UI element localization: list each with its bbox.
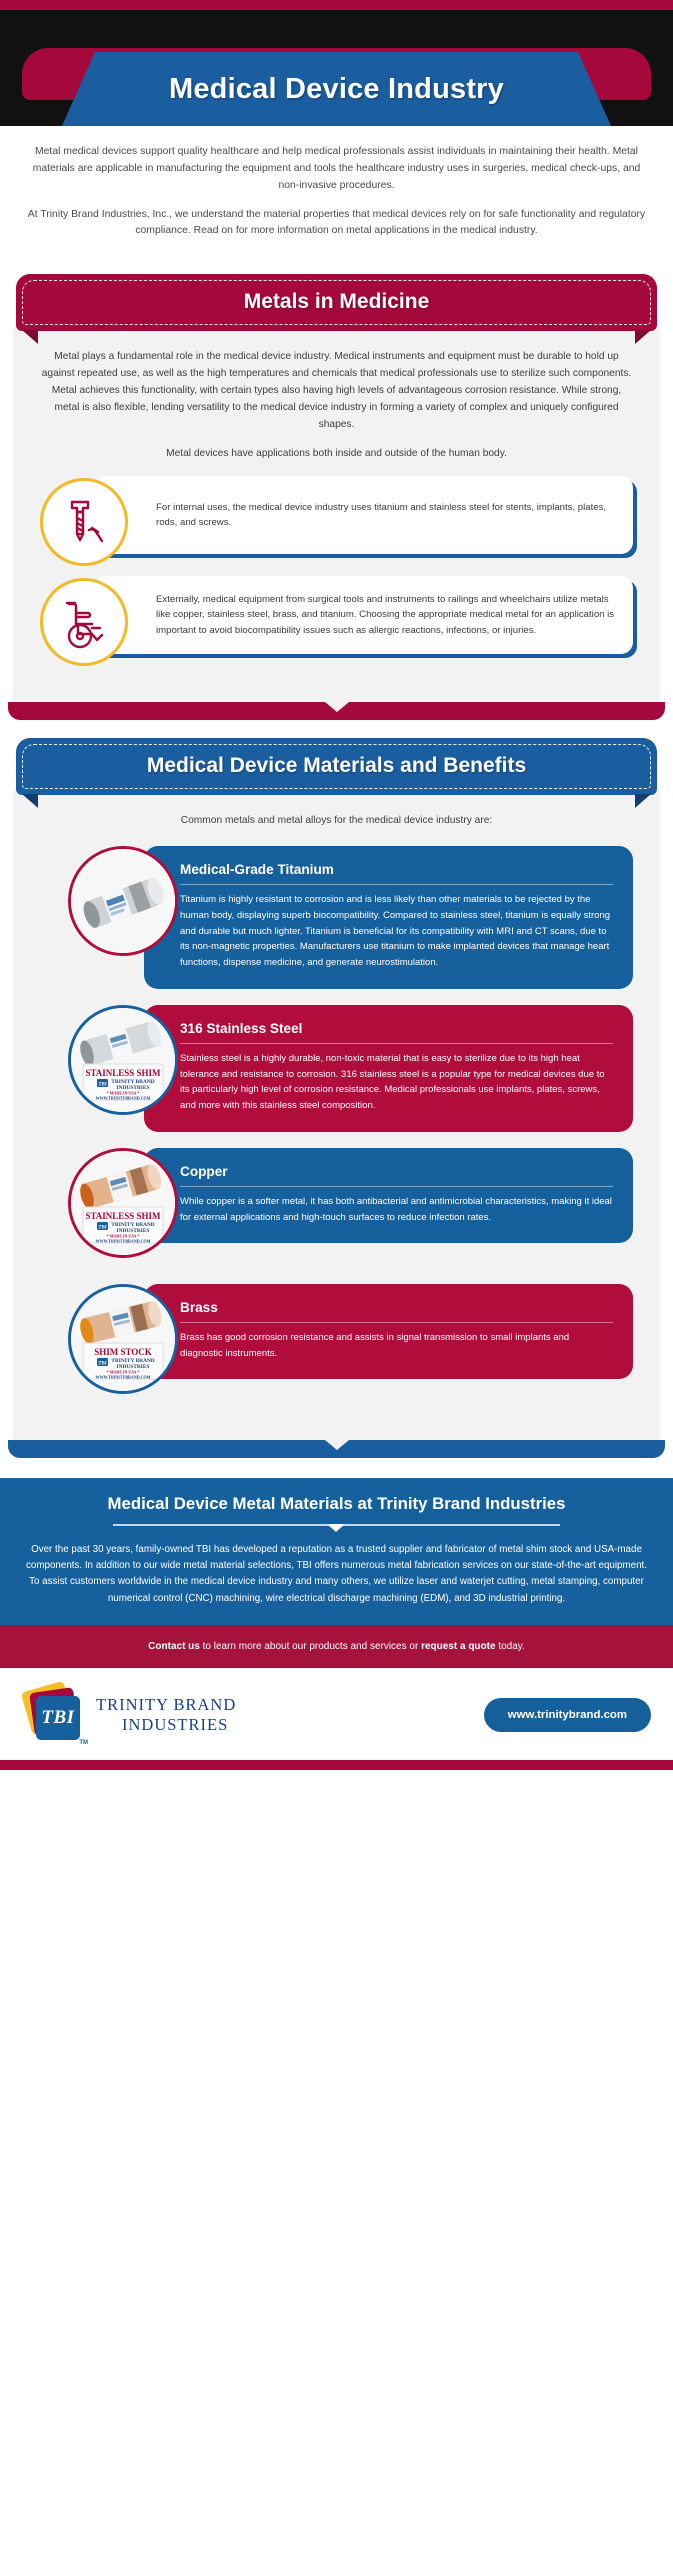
materials-panel-footer (14, 1440, 659, 1464)
trinity-divider-icon (113, 1520, 560, 1532)
svg-text:TBI: TBI (98, 1225, 107, 1230)
banner-left-tab-icon (22, 330, 38, 344)
materials-panel-notch-icon (325, 1440, 349, 1450)
footer: TBI TM TRINITY BRAND INDUSTRIES www.trin… (0, 1668, 673, 1760)
material-card-brass: SHIM STOCK TBI TRINITY BRAND INDUSTRIES … (40, 1284, 633, 1404)
metals-panel-notch-icon (325, 702, 349, 712)
material-card-stainless-steel: STAINLESS SHIM TBI TRINITY BRAND INDUSTR… (40, 1005, 633, 1132)
metals-banner-title: Metals in Medicine (29, 290, 644, 314)
cta-mid-text: to learn more about our products and ser… (200, 1641, 421, 1652)
svg-text:WWW.TRINITYBRAND.COM: WWW.TRINITYBRAND.COM (96, 1238, 151, 1243)
cta-bar: Contact us to learn more about our produ… (0, 1625, 673, 1668)
trinity-section: Medical Device Metal Materials at Trinit… (0, 1478, 673, 1625)
trinity-section-title: Medical Device Metal Materials at Trinit… (26, 1494, 647, 1514)
hero-banner: Medical Device Industry (62, 52, 611, 126)
svg-text:STAINLESS SHIM: STAINLESS SHIM (85, 1068, 161, 1078)
titanium-card-body: Medical-Grade Titanium Titanium is highl… (144, 846, 633, 989)
tbi-logo-mark-icon: TBI TM (22, 1684, 86, 1746)
banner-left-tab-icon (22, 794, 38, 808)
svg-text:TBI: TBI (98, 1361, 107, 1366)
logo-line-1: TRINITY BRAND (96, 1695, 236, 1714)
intro-paragraph-2: At Trinity Brand Industries, Inc., we un… (22, 207, 651, 241)
stainless-card-body: 316 Stainless Steel Stainless steel is a… (144, 1005, 633, 1132)
infographic-page: Medical Device Industry Metal medical de… (0, 0, 673, 1770)
top-red-bar (0, 0, 673, 10)
wheelchair-icon (40, 578, 128, 666)
cta-text: Contact us to learn more about our produ… (24, 1639, 649, 1654)
tbi-logo-wordmark: TRINITY BRAND INDUSTRIES (96, 1695, 236, 1734)
titanium-card-description: Titanium is highly resistant to corrosio… (180, 892, 613, 971)
banner-right-tab-icon (635, 330, 651, 344)
brass-card-title: Brass (180, 1300, 613, 1323)
callout-internal-uses: For internal uses, the medical device in… (40, 476, 633, 562)
intro-paragraph-1: Metal medical devices support quality he… (22, 144, 651, 195)
copper-card-description: While copper is a softer metal, it has b… (180, 1194, 613, 1226)
callout-external-text: Externally, medical equipment from surgi… (156, 592, 615, 639)
footer-red-bar (0, 1760, 673, 1770)
copper-card-title: Copper (180, 1164, 613, 1187)
materials-lead-text: Common metals and metal alloys for the m… (40, 813, 633, 830)
materials-panel: Common metals and metal alloys for the m… (14, 791, 659, 1440)
metals-banner: Metals in Medicine (16, 274, 657, 331)
copper-card-body: Copper While copper is a softer metal, i… (144, 1148, 633, 1244)
contact-us-link[interactable]: Contact us (148, 1641, 200, 1652)
website-button[interactable]: www.trinitybrand.com (484, 1698, 651, 1732)
titanium-shim-roll-photo (68, 846, 178, 956)
svg-text:TBI: TBI (98, 1082, 107, 1087)
stainless-card-title: 316 Stainless Steel (180, 1021, 613, 1044)
metals-in-medicine-section: Metals in Medicine (16, 274, 657, 331)
metals-paragraph-2: Metal devices have applications both ins… (40, 446, 633, 463)
callout-internal-box: For internal uses, the medical device in… (94, 476, 633, 554)
metals-panel-footer (14, 702, 659, 726)
top-dark-bar (0, 10, 673, 34)
svg-text:STAINLESS SHIM: STAINLESS SHIM (85, 1211, 161, 1221)
banner-right-tab-icon (635, 794, 651, 808)
hero-banner-holder: Medical Device Industry (0, 34, 673, 126)
metals-banner-inner: Metals in Medicine (22, 280, 651, 325)
page-title: Medical Device Industry (169, 73, 504, 106)
request-quote-link[interactable]: request a quote (421, 1641, 495, 1652)
brass-card-body: Brass Brass has good corrosion resistanc… (144, 1284, 633, 1380)
cta-end-text: today. (496, 1641, 525, 1652)
metals-paragraph-1: Metal plays a fundamental role in the me… (40, 349, 633, 433)
tbi-logo[interactable]: TBI TM TRINITY BRAND INDUSTRIES (22, 1684, 236, 1746)
metals-panel: Metal plays a fundamental role in the me… (14, 327, 659, 702)
material-card-titanium: Medical-Grade Titanium Titanium is highl… (40, 846, 633, 989)
stainless-shim-box-photo: STAINLESS SHIM TBI TRINITY BRAND INDUSTR… (68, 1005, 178, 1115)
material-card-copper: STAINLESS SHIM TBI TRINITY BRAND INDUSTR… (40, 1148, 633, 1268)
titanium-card-title: Medical-Grade Titanium (180, 862, 613, 885)
copper-shim-box-photo: STAINLESS SHIM TBI TRINITY BRAND INDUSTR… (68, 1148, 178, 1258)
intro-text-block: Metal medical devices support quality he… (0, 126, 673, 262)
callout-external-uses: Externally, medical equipment from surgi… (40, 576, 633, 662)
svg-text:WWW.TRINITYBRAND.COM: WWW.TRINITYBRAND.COM (96, 1095, 151, 1100)
callout-internal-text: For internal uses, the medical device in… (156, 500, 615, 531)
brass-shim-stock-photo: SHIM STOCK TBI TRINITY BRAND INDUSTRIES … (68, 1284, 178, 1394)
brass-card-description: Brass has good corrosion resistance and … (180, 1330, 613, 1362)
screw-icon (40, 478, 128, 566)
materials-banner-inner: Medical Device Materials and Benefits (22, 744, 651, 789)
logo-initials: TBI (41, 1707, 74, 1729)
logo-trademark-icon: TM (79, 1740, 88, 1746)
logo-line-2: INDUSTRIES (96, 1715, 236, 1734)
logo-blue-square-icon: TBI (36, 1696, 80, 1740)
svg-text:WWW.TRINITYBRAND.COM: WWW.TRINITYBRAND.COM (96, 1374, 151, 1379)
hero-section: Medical Device Industry (0, 34, 673, 126)
materials-section: Medical Device Materials and Benefits (16, 738, 657, 795)
materials-banner: Medical Device Materials and Benefits (16, 738, 657, 795)
svg-text:SHIM STOCK: SHIM STOCK (94, 1347, 152, 1357)
trinity-section-paragraph: Over the past 30 years, family-owned TBI… (26, 1542, 647, 1607)
materials-banner-title: Medical Device Materials and Benefits (29, 754, 644, 778)
stainless-card-description: Stainless steel is a highly durable, non… (180, 1051, 613, 1114)
callout-external-box: Externally, medical equipment from surgi… (94, 576, 633, 654)
